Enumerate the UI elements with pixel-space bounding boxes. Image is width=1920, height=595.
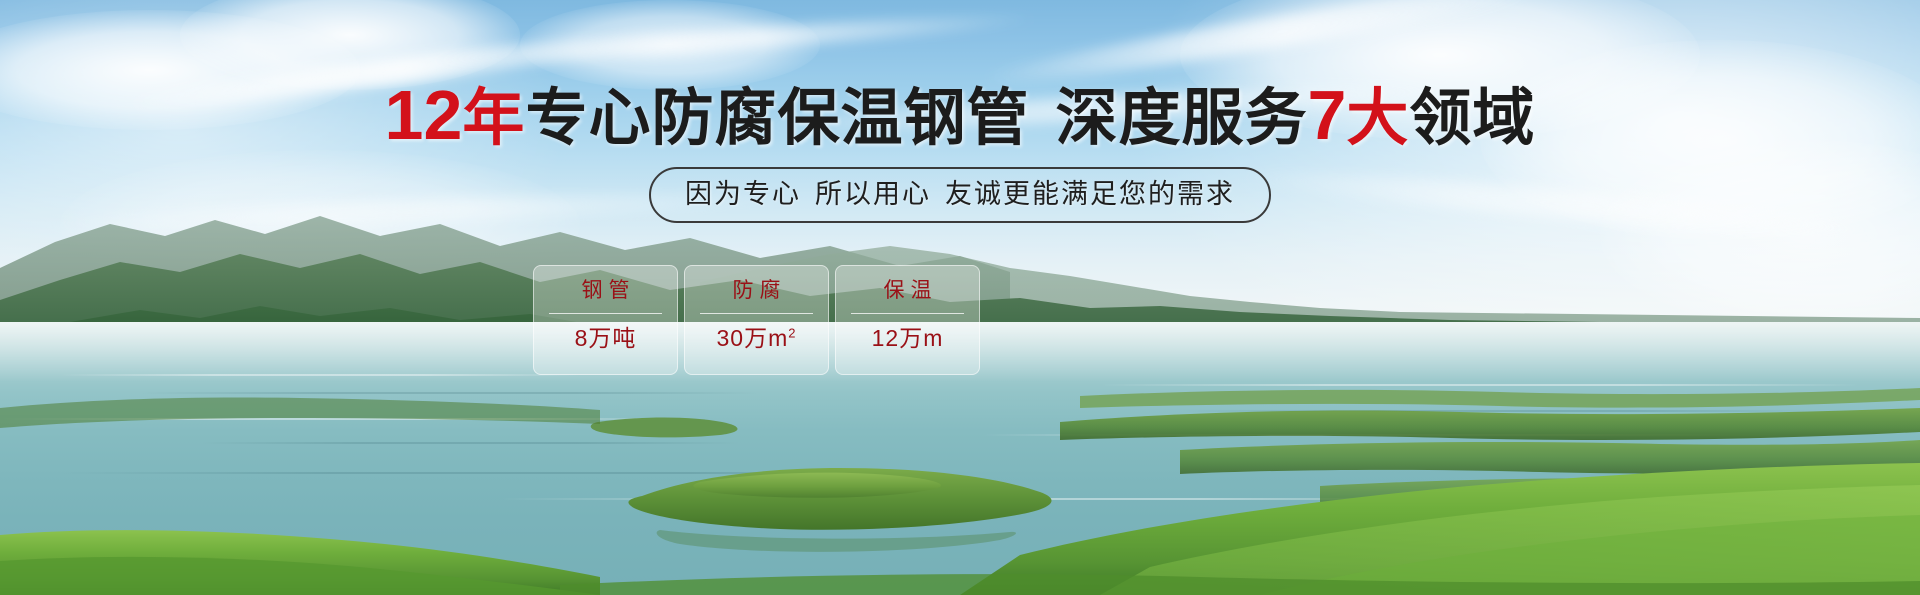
stat-card-value-text: 30万m xyxy=(717,325,789,351)
subtitle-part-2: 所以用心 xyxy=(815,179,931,209)
stat-card-value: 12万m xyxy=(872,327,944,350)
headline-main-text: 专心防腐保温钢管 xyxy=(525,84,1029,153)
stat-card-value-superscript: 2 xyxy=(788,325,796,340)
stat-card-value: 30万m2 xyxy=(717,327,797,350)
stat-card-label: 保温 xyxy=(878,280,938,301)
stat-card-label: 钢管 xyxy=(576,280,636,301)
stat-card: 保温 12万m xyxy=(835,265,980,375)
cloud-shape xyxy=(520,0,820,90)
page-title: 12年专心防腐保温钢管深度服务7大领域 xyxy=(0,80,1920,150)
stat-card-divider xyxy=(549,313,662,314)
subtitle-part-1: 因为专心 xyxy=(685,179,801,209)
stat-card-group: 钢管 8万吨 防腐 30万m2 保温 12万m xyxy=(533,265,980,375)
headline-fields-label: 领域 xyxy=(1409,84,1535,153)
subtitle-container: 因为专心所以用心友诚更能满足您的需求 xyxy=(0,167,1920,223)
subtitle-part-3: 友诚更能满足您的需求 xyxy=(945,179,1235,209)
stat-card-label: 防腐 xyxy=(727,280,787,301)
headline-service-text: 深度服务 xyxy=(1055,84,1307,153)
stat-card-value-text: 12万m xyxy=(872,325,944,351)
headline-years-number: 12 xyxy=(385,76,463,154)
cloud-shape xyxy=(180,0,520,90)
stat-card-divider xyxy=(700,313,813,314)
hero-banner: 12年专心防腐保温钢管深度服务7大领域 因为专心所以用心友诚更能满足您的需求 钢… xyxy=(0,0,1920,595)
headline-years-unit: 年 xyxy=(462,84,525,153)
stat-card: 钢管 8万吨 xyxy=(533,265,678,375)
stat-card-divider xyxy=(851,313,964,314)
stat-card-value-text: 8万吨 xyxy=(575,325,637,351)
cloud-wisp xyxy=(420,8,1040,71)
headline-fields-measure: 大 xyxy=(1346,84,1409,153)
subtitle-pill: 因为专心所以用心友诚更能满足您的需求 xyxy=(649,167,1271,223)
stat-card-value: 8万吨 xyxy=(575,327,637,350)
stat-card: 防腐 30万m2 xyxy=(684,265,829,375)
foreground-grass xyxy=(0,385,1920,595)
headline-fields-number: 7 xyxy=(1307,76,1346,154)
